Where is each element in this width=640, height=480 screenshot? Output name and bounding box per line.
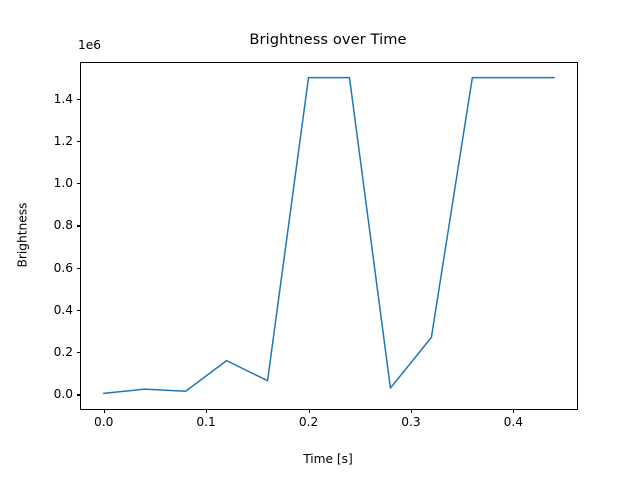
y-tick-label: 1.4 xyxy=(54,92,73,106)
y-axis-label-text: Brightness xyxy=(15,203,29,268)
y-tick-label: 0.4 xyxy=(54,303,73,317)
y-tick-label: 0.2 xyxy=(54,345,73,359)
x-axis-label: Time [s] xyxy=(80,452,576,466)
y-axis-tick-labels: 0.00.20.40.60.81.01.21.4 xyxy=(81,63,577,409)
y-tick-label: 0.0 xyxy=(54,387,73,401)
y-tick-label: 0.6 xyxy=(54,261,73,275)
y-tick-label: 0.8 xyxy=(54,218,73,232)
chart-title: Brightness over Time xyxy=(80,31,576,48)
x-tick-mark xyxy=(206,409,207,413)
matplotlib-figure: Brightness over Time 1e6 0.00.10.20.30.4… xyxy=(0,0,640,480)
x-tick-label: 0.4 xyxy=(504,415,523,429)
y-tick-label: 1.2 xyxy=(54,134,73,148)
x-tick-mark xyxy=(513,409,514,413)
x-tick-label: 0.0 xyxy=(94,415,113,429)
x-tick-mark xyxy=(309,409,310,413)
x-tick-label: 0.2 xyxy=(299,415,318,429)
x-tick-label: 0.1 xyxy=(196,415,215,429)
y-axis-offset-label: 1e6 xyxy=(78,38,101,52)
x-tick-label: 0.3 xyxy=(401,415,420,429)
y-tick-label: 1.0 xyxy=(54,176,73,190)
x-tick-mark xyxy=(411,409,412,413)
x-tick-mark xyxy=(104,409,105,413)
plot-axes: 0.00.10.20.30.4 0.00.20.40.60.81.01.21.4 xyxy=(80,62,578,410)
y-axis-label: Brightness xyxy=(14,62,30,408)
